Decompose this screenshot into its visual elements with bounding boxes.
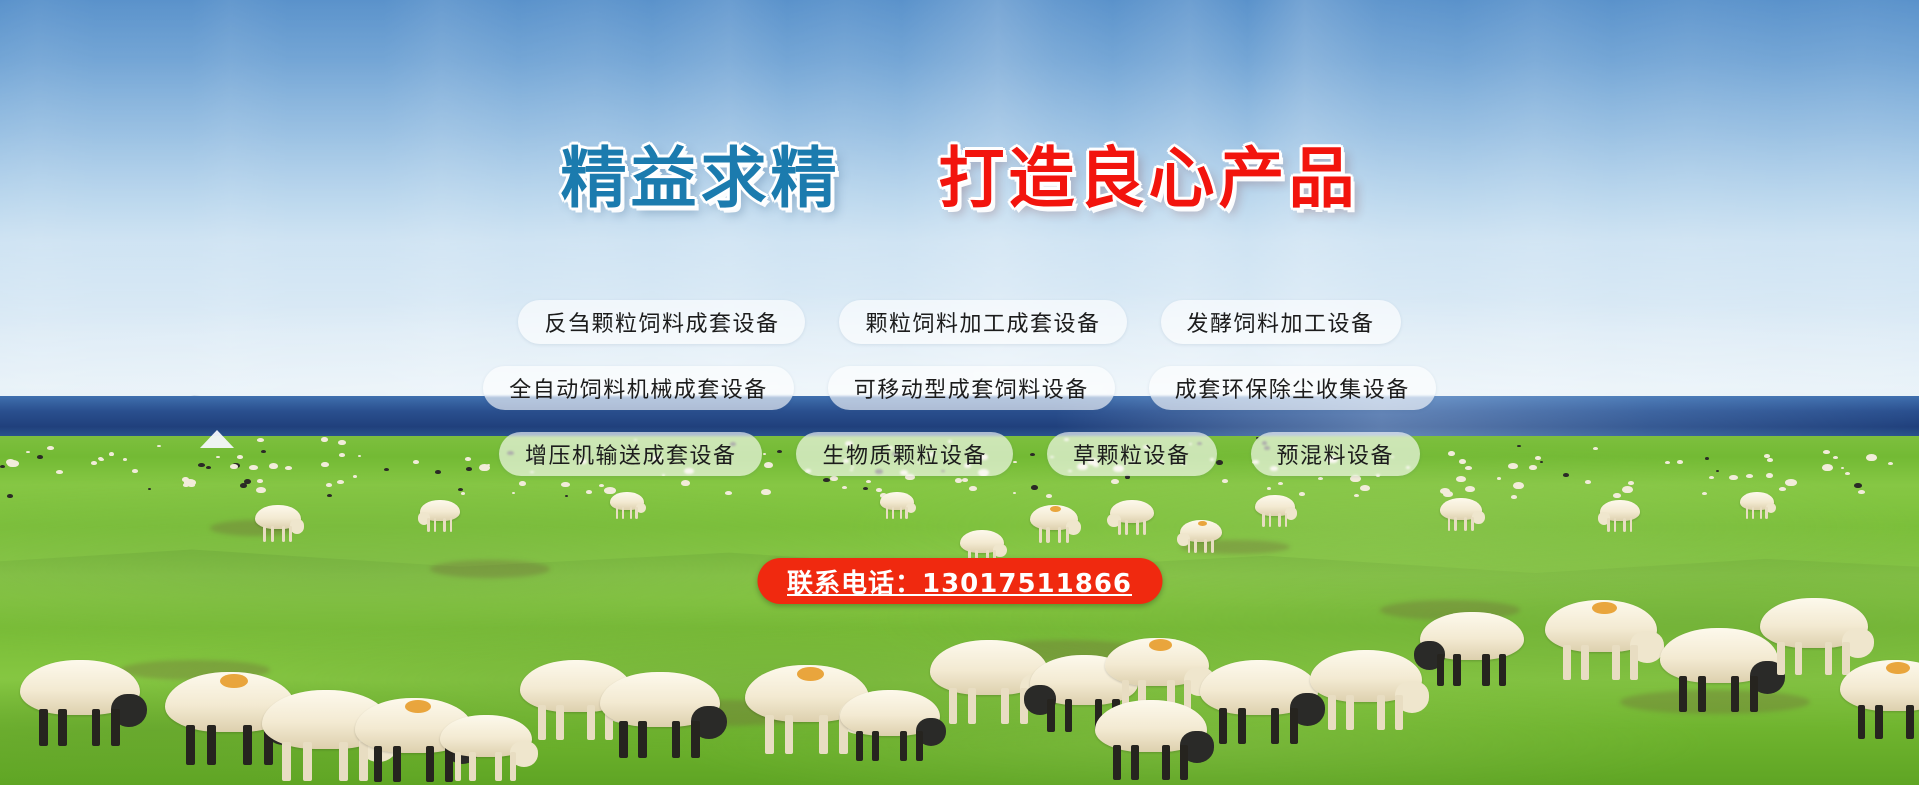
pill-row-3: 增压机输送成套设备 生物质颗粒设备 草颗粒设备 预混料设备: [430, 432, 1490, 476]
distant-sheep: [256, 487, 266, 493]
sheep-leg: [186, 725, 195, 765]
sheep: [840, 690, 940, 760]
sheep-leg: [443, 518, 446, 532]
sheep-leg: [1630, 645, 1638, 679]
sheep-leg: [111, 709, 119, 746]
distant-sheep: [244, 479, 251, 484]
sheep-leg: [1875, 705, 1883, 739]
sheep-leg: [1581, 645, 1589, 679]
distant-sheep: [1729, 475, 1738, 480]
sheep: [1740, 492, 1774, 519]
sheep-mark: [405, 700, 431, 713]
sheep-leg: [1204, 539, 1207, 553]
distant-sheep: [269, 463, 278, 469]
sheep-leg: [538, 705, 546, 739]
sheep-leg: [1346, 695, 1354, 729]
sheep-leg: [450, 518, 453, 532]
distant-sheep: [1866, 454, 1877, 461]
sheep-leg: [1039, 527, 1042, 543]
sheep-leg: [1825, 642, 1833, 675]
sheep-leg: [1328, 695, 1336, 729]
sheep-leg: [1131, 745, 1139, 779]
sheep-leg: [900, 731, 907, 762]
sheep-leg: [1858, 705, 1866, 739]
product-pill[interactable]: 反刍颗粒饲料成套设备: [518, 300, 805, 344]
sheep-leg: [949, 688, 957, 724]
sheep-leg: [1630, 518, 1633, 532]
sheep-leg: [1271, 708, 1279, 744]
sheep-leg: [469, 752, 475, 780]
sheep-leg: [207, 725, 216, 765]
sheep-leg: [58, 709, 66, 746]
sheep-leg: [1765, 507, 1767, 519]
distant-sheep: [188, 483, 195, 487]
distant-sheep: [1854, 483, 1862, 488]
sheep: [1310, 650, 1422, 728]
distant-sheep: [1593, 447, 1598, 450]
sheep-leg: [243, 725, 252, 765]
distant-sheep: [206, 466, 211, 469]
distant-sheep: [1841, 467, 1844, 469]
sheep-leg: [1047, 699, 1055, 732]
sheep-mark: [1198, 521, 1207, 526]
sheep-leg: [556, 705, 564, 739]
distant-sheep: [1767, 458, 1773, 462]
sheep-leg: [630, 507, 632, 519]
sheep-leg: [427, 518, 430, 532]
sheep: [1255, 495, 1295, 526]
distant-sheep: [157, 445, 161, 447]
sheep-leg: [635, 507, 637, 519]
distant-sheep: [26, 451, 30, 453]
sheep-leg: [1046, 527, 1049, 543]
sheep-leg: [455, 752, 461, 780]
dirt-patch: [430, 560, 550, 578]
headline: 精益求精 打造良心产品: [0, 142, 1919, 212]
distant-sheep: [339, 453, 345, 457]
sheep: [1095, 700, 1207, 778]
sheep-leg: [1623, 518, 1626, 532]
sheep-leg: [1563, 645, 1571, 679]
sheep-leg: [691, 721, 699, 758]
sheep-leg: [1752, 507, 1754, 519]
sheep-leg: [1162, 745, 1170, 779]
distant-sheep: [1511, 495, 1517, 499]
distant-sheep: [358, 455, 361, 457]
sheep-leg: [785, 715, 794, 753]
sheep-leg: [495, 752, 501, 780]
sheep-leg: [638, 721, 646, 758]
distant-sheep: [230, 464, 238, 469]
sheep-leg: [765, 715, 774, 753]
distant-sheep: [1497, 477, 1501, 480]
distant-sheep: [1563, 473, 1569, 477]
distant-sheep: [1705, 457, 1709, 460]
distant-sheep: [1858, 490, 1865, 494]
distant-sheep: [56, 470, 63, 474]
sheep-leg: [1269, 513, 1272, 527]
sheep: [1030, 505, 1078, 542]
distant-sheep: [1779, 487, 1786, 491]
distant-sheep: [1845, 472, 1850, 475]
product-pill[interactable]: 生物质颗粒设备: [796, 432, 1013, 476]
distant-sheep: [249, 465, 258, 470]
distant-sheep: [327, 494, 332, 497]
sheep-leg: [1731, 676, 1739, 712]
sheep-leg: [1795, 642, 1803, 675]
product-pill[interactable]: 草颗粒设备: [1047, 432, 1217, 476]
hero-banner: 精益求精 打造良心产品 反刍颗粒饲料成套设备 颗粒饲料加工成套设备 发酵饲料加工…: [0, 0, 1919, 785]
sheep-leg: [968, 688, 976, 724]
sheep-leg: [1906, 705, 1914, 739]
sheep: [255, 505, 301, 541]
sheep-leg: [1454, 517, 1457, 531]
sheep-leg: [1058, 527, 1061, 543]
sheep: [1600, 500, 1640, 531]
sheep: [20, 660, 140, 744]
sheep: [1180, 520, 1222, 553]
distant-sheep: [1822, 464, 1833, 471]
distant-sheep: [321, 437, 328, 442]
distant-sheep: [1785, 479, 1797, 486]
distant-sheep: [261, 450, 266, 453]
product-pill[interactable]: 预混料设备: [1251, 432, 1421, 476]
sheep-leg: [1499, 654, 1506, 686]
distant-sheep: [1702, 492, 1707, 495]
sheep-leg: [1194, 539, 1197, 553]
product-pill[interactable]: 全自动饲料机械成套设备: [483, 366, 794, 410]
sheep-leg: [900, 507, 902, 519]
distant-sheep: [257, 438, 264, 442]
distant-sheep: [1677, 460, 1683, 464]
sheep-leg: [1607, 518, 1610, 532]
sheep-leg: [1453, 654, 1460, 686]
product-pill[interactable]: 发酵饲料加工设备: [1161, 300, 1401, 344]
product-pill-grid: 反刍颗粒饲料成套设备 颗粒饲料加工成套设备 发酵饲料加工设备 全自动饲料机械成套…: [430, 300, 1490, 498]
sheep-leg: [271, 526, 274, 542]
sheep-mark: [1886, 662, 1910, 674]
sheep-mark: [1050, 506, 1061, 512]
sheep-leg: [622, 507, 624, 519]
sheep-leg: [263, 526, 266, 542]
sheep-leg: [1211, 539, 1214, 553]
sheep-leg: [1612, 645, 1620, 679]
distant-sheep: [1665, 461, 1670, 464]
sheep-leg: [1395, 695, 1403, 729]
product-pill[interactable]: 可移动型成套饲料设备: [828, 366, 1115, 410]
distant-sheep: [7, 494, 13, 498]
sheep: [600, 672, 720, 756]
sheep-leg: [1698, 676, 1706, 712]
distant-sheep: [216, 456, 220, 458]
distant-sheep: [1716, 470, 1719, 472]
sheep-leg: [1118, 520, 1121, 535]
sheep: [1440, 498, 1482, 531]
distant-sheep: [1746, 474, 1753, 478]
headline-red-text: 打造良心产品: [938, 146, 1358, 212]
sheep-leg: [1180, 745, 1188, 779]
sheep-leg: [374, 746, 382, 782]
distant-sheep: [7, 460, 19, 467]
sheep-leg: [1464, 517, 1467, 531]
sheep-leg: [393, 746, 401, 782]
headline-blue-text: 精益求精: [561, 146, 841, 212]
sheep-leg: [1750, 676, 1758, 712]
sheep-leg: [916, 731, 923, 762]
distant-sheep: [98, 457, 103, 460]
distant-sheep: [1888, 462, 1893, 465]
distant-sheep: [337, 480, 344, 484]
sheep-leg: [872, 731, 879, 762]
distant-sheep: [257, 479, 263, 483]
distant-sheep: [0, 465, 5, 468]
distant-sheep: [1613, 493, 1621, 498]
sheep-leg: [905, 507, 907, 519]
distant-sheep: [123, 458, 127, 461]
distant-sheep: [237, 455, 243, 459]
distant-sheep: [1833, 456, 1838, 459]
sheep-leg: [39, 709, 47, 746]
distant-sheep: [384, 468, 389, 471]
distant-sheep: [1622, 486, 1633, 493]
sheep-leg: [1614, 518, 1617, 532]
distant-sheep: [353, 475, 357, 478]
sheep-leg: [672, 721, 680, 758]
sheep-leg: [1066, 527, 1069, 543]
distant-sheep: [91, 461, 97, 465]
distant-sheep: [132, 469, 138, 473]
sheep-leg: [892, 507, 894, 519]
pill-row-2: 全自动饲料机械成套设备 可移动型成套饲料设备 成套环保除尘收集设备: [430, 366, 1490, 410]
pill-row-1: 反刍颗粒饲料成套设备 颗粒饲料加工成套设备 发酵饲料加工设备: [430, 300, 1490, 344]
sheep-leg: [303, 742, 312, 781]
sheep-leg: [1262, 513, 1265, 527]
distant-sheep: [1529, 465, 1537, 470]
distant-sheep: [321, 462, 329, 467]
product-pill[interactable]: 增压机输送成套设备: [499, 432, 763, 476]
distant-sheep: [1508, 463, 1518, 469]
distant-sheep: [109, 452, 114, 456]
sheep-leg: [282, 526, 285, 542]
distant-sheep: [285, 466, 292, 470]
sheep-mark: [1149, 639, 1172, 651]
sheep-leg: [1679, 676, 1687, 712]
sheep-leg: [92, 709, 100, 746]
product-pill[interactable]: 颗粒饲料加工成套设备: [839, 300, 1126, 344]
product-pill[interactable]: 成套环保除尘收集设备: [1149, 366, 1436, 410]
sheep-leg: [1290, 708, 1298, 744]
distant-sheep: [1709, 476, 1714, 479]
sheep: [1545, 600, 1657, 678]
sheep-leg: [1136, 520, 1139, 535]
sheep-head: [290, 519, 304, 533]
sheep-leg: [856, 731, 863, 762]
sheep-leg: [1437, 654, 1444, 686]
sheep: [1840, 660, 1919, 737]
distant-sheep: [1766, 473, 1773, 478]
sheep-leg: [1482, 654, 1489, 686]
sheep: [1110, 500, 1154, 534]
sheep: [1420, 612, 1524, 685]
sheep-leg: [1278, 513, 1281, 527]
sheep-mark: [797, 667, 824, 681]
sheep-leg: [1777, 642, 1785, 675]
sheep: [1200, 660, 1318, 743]
distant-sheep: [1628, 481, 1634, 485]
sheep-leg: [289, 526, 292, 542]
sheep-leg: [1065, 699, 1073, 732]
distant-sheep: [1540, 461, 1543, 463]
distant-sheep: [1823, 450, 1830, 454]
sheep-leg: [1377, 695, 1385, 729]
distant-sheep: [1585, 480, 1591, 484]
sheep-leg: [587, 705, 595, 739]
sheep-leg: [819, 715, 828, 753]
sheep: [440, 715, 532, 779]
distant-sheep: [47, 446, 54, 450]
sheep-leg: [282, 742, 291, 781]
distant-sheep: [198, 463, 205, 467]
distant-sheep: [37, 455, 43, 459]
contact-phone-badge[interactable]: 联系电话：13017511866: [757, 558, 1162, 604]
sheep-leg: [339, 742, 348, 781]
distant-sheep: [338, 440, 346, 445]
sheep-mark: [1592, 602, 1617, 615]
distant-sheep: [1513, 482, 1524, 489]
sheep: [420, 500, 460, 531]
sheep-leg: [510, 752, 516, 780]
sheep-leg: [1113, 745, 1121, 779]
distant-sheep: [1535, 456, 1541, 460]
sheep-leg: [619, 721, 627, 758]
sheep-leg: [1001, 688, 1009, 724]
distant-sheep: [148, 488, 151, 490]
sheep-leg: [1238, 708, 1246, 744]
sheep-leg: [434, 518, 437, 532]
sheep-leg: [1471, 517, 1474, 531]
distant-sheep: [413, 460, 419, 464]
sheep-leg: [1125, 520, 1128, 535]
sheep-leg: [426, 746, 434, 782]
sheep-leg: [1285, 513, 1288, 527]
sheep-leg: [1760, 507, 1762, 519]
sheep-leg: [1219, 708, 1227, 744]
distant-sheep: [326, 483, 332, 487]
sheep-leg: [1143, 520, 1146, 535]
distant-sheep: [1517, 445, 1521, 447]
